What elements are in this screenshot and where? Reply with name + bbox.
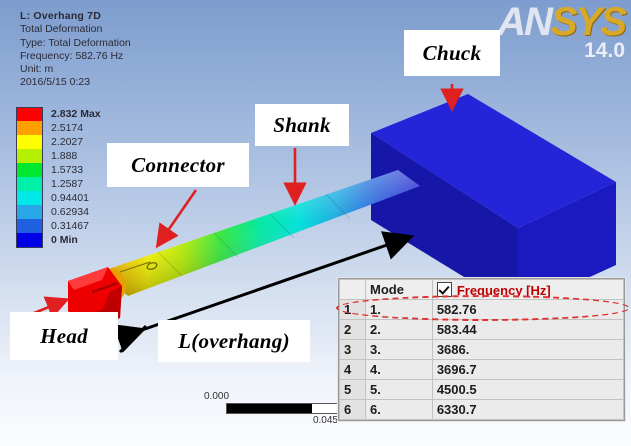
row-index-cell[interactable]: 3 xyxy=(340,340,366,360)
frequency-cell[interactable]: 3686. xyxy=(432,340,623,360)
table-row[interactable]: 66.6330.7 xyxy=(340,400,624,420)
mode-cell[interactable]: 4. xyxy=(366,360,433,380)
row-index-cell[interactable]: 2 xyxy=(340,320,366,340)
row-index-cell[interactable]: 6 xyxy=(340,400,366,420)
table-row[interactable]: 22.583.44 xyxy=(340,320,624,340)
table-row[interactable]: 55.4500.5 xyxy=(340,380,624,400)
ansys-viewport: ANSYS 14.0 L: Overhang 7D Total Deformat… xyxy=(0,0,631,446)
frequency-cell[interactable]: 4500.5 xyxy=(432,380,623,400)
table-body: 11.582.7622.583.4433.3686.44.3696.755.45… xyxy=(340,300,624,420)
callout-overhang: L(overhang) xyxy=(158,320,310,362)
frequency-cell[interactable]: 6330.7 xyxy=(432,400,623,420)
column-header-frequency[interactable]: Frequency [Hz] xyxy=(432,280,623,300)
table-row[interactable]: 44.3696.7 xyxy=(340,360,624,380)
callout-connector: Connector xyxy=(107,143,249,187)
mode-cell[interactable]: 6. xyxy=(366,400,433,420)
connector-pointer-arrow xyxy=(158,190,196,245)
scale-max-label: 0.045 xyxy=(204,415,338,426)
scale-min-label: 0.000 xyxy=(204,391,340,402)
scale-bar-graphic xyxy=(226,403,340,414)
mode-cell[interactable]: 2. xyxy=(366,320,433,340)
table-row[interactable]: 33.3686. xyxy=(340,340,624,360)
frequency-checkbox-icon[interactable] xyxy=(437,282,452,297)
callout-chuck: Chuck xyxy=(404,30,500,76)
row-index-cell[interactable]: 4 xyxy=(340,360,366,380)
row-index-cell[interactable]: 5 xyxy=(340,380,366,400)
mode-cell[interactable]: 3. xyxy=(366,340,433,360)
row-index-cell[interactable]: 1 xyxy=(340,300,366,320)
column-header-index xyxy=(340,280,366,300)
callout-connector-label: Connector xyxy=(131,153,225,178)
scale-bar: 0.000 0.045 xyxy=(204,391,340,426)
frequency-cell[interactable]: 3696.7 xyxy=(432,360,623,380)
table-row[interactable]: 11.582.76 xyxy=(340,300,624,320)
column-header-mode[interactable]: Mode xyxy=(366,280,433,300)
callout-chuck-label: Chuck xyxy=(423,41,482,66)
callout-overhang-label: L(overhang) xyxy=(178,329,290,354)
table-header-row: Mode Frequency [Hz] xyxy=(340,280,624,300)
mode-cell[interactable]: 1. xyxy=(366,300,433,320)
callout-head: Head xyxy=(10,312,118,360)
mode-cell[interactable]: 5. xyxy=(366,380,433,400)
frequency-cell[interactable]: 583.44 xyxy=(432,320,623,340)
frequency-cell[interactable]: 582.76 xyxy=(432,300,623,320)
callout-head-label: Head xyxy=(40,324,88,349)
modal-results-table[interactable]: Mode Frequency [Hz] 11.582.7622.583.4433… xyxy=(338,278,625,421)
callout-shank-label: Shank xyxy=(273,113,331,138)
column-header-frequency-label: Frequency [Hz] xyxy=(457,283,551,298)
callout-shank: Shank xyxy=(255,104,349,146)
